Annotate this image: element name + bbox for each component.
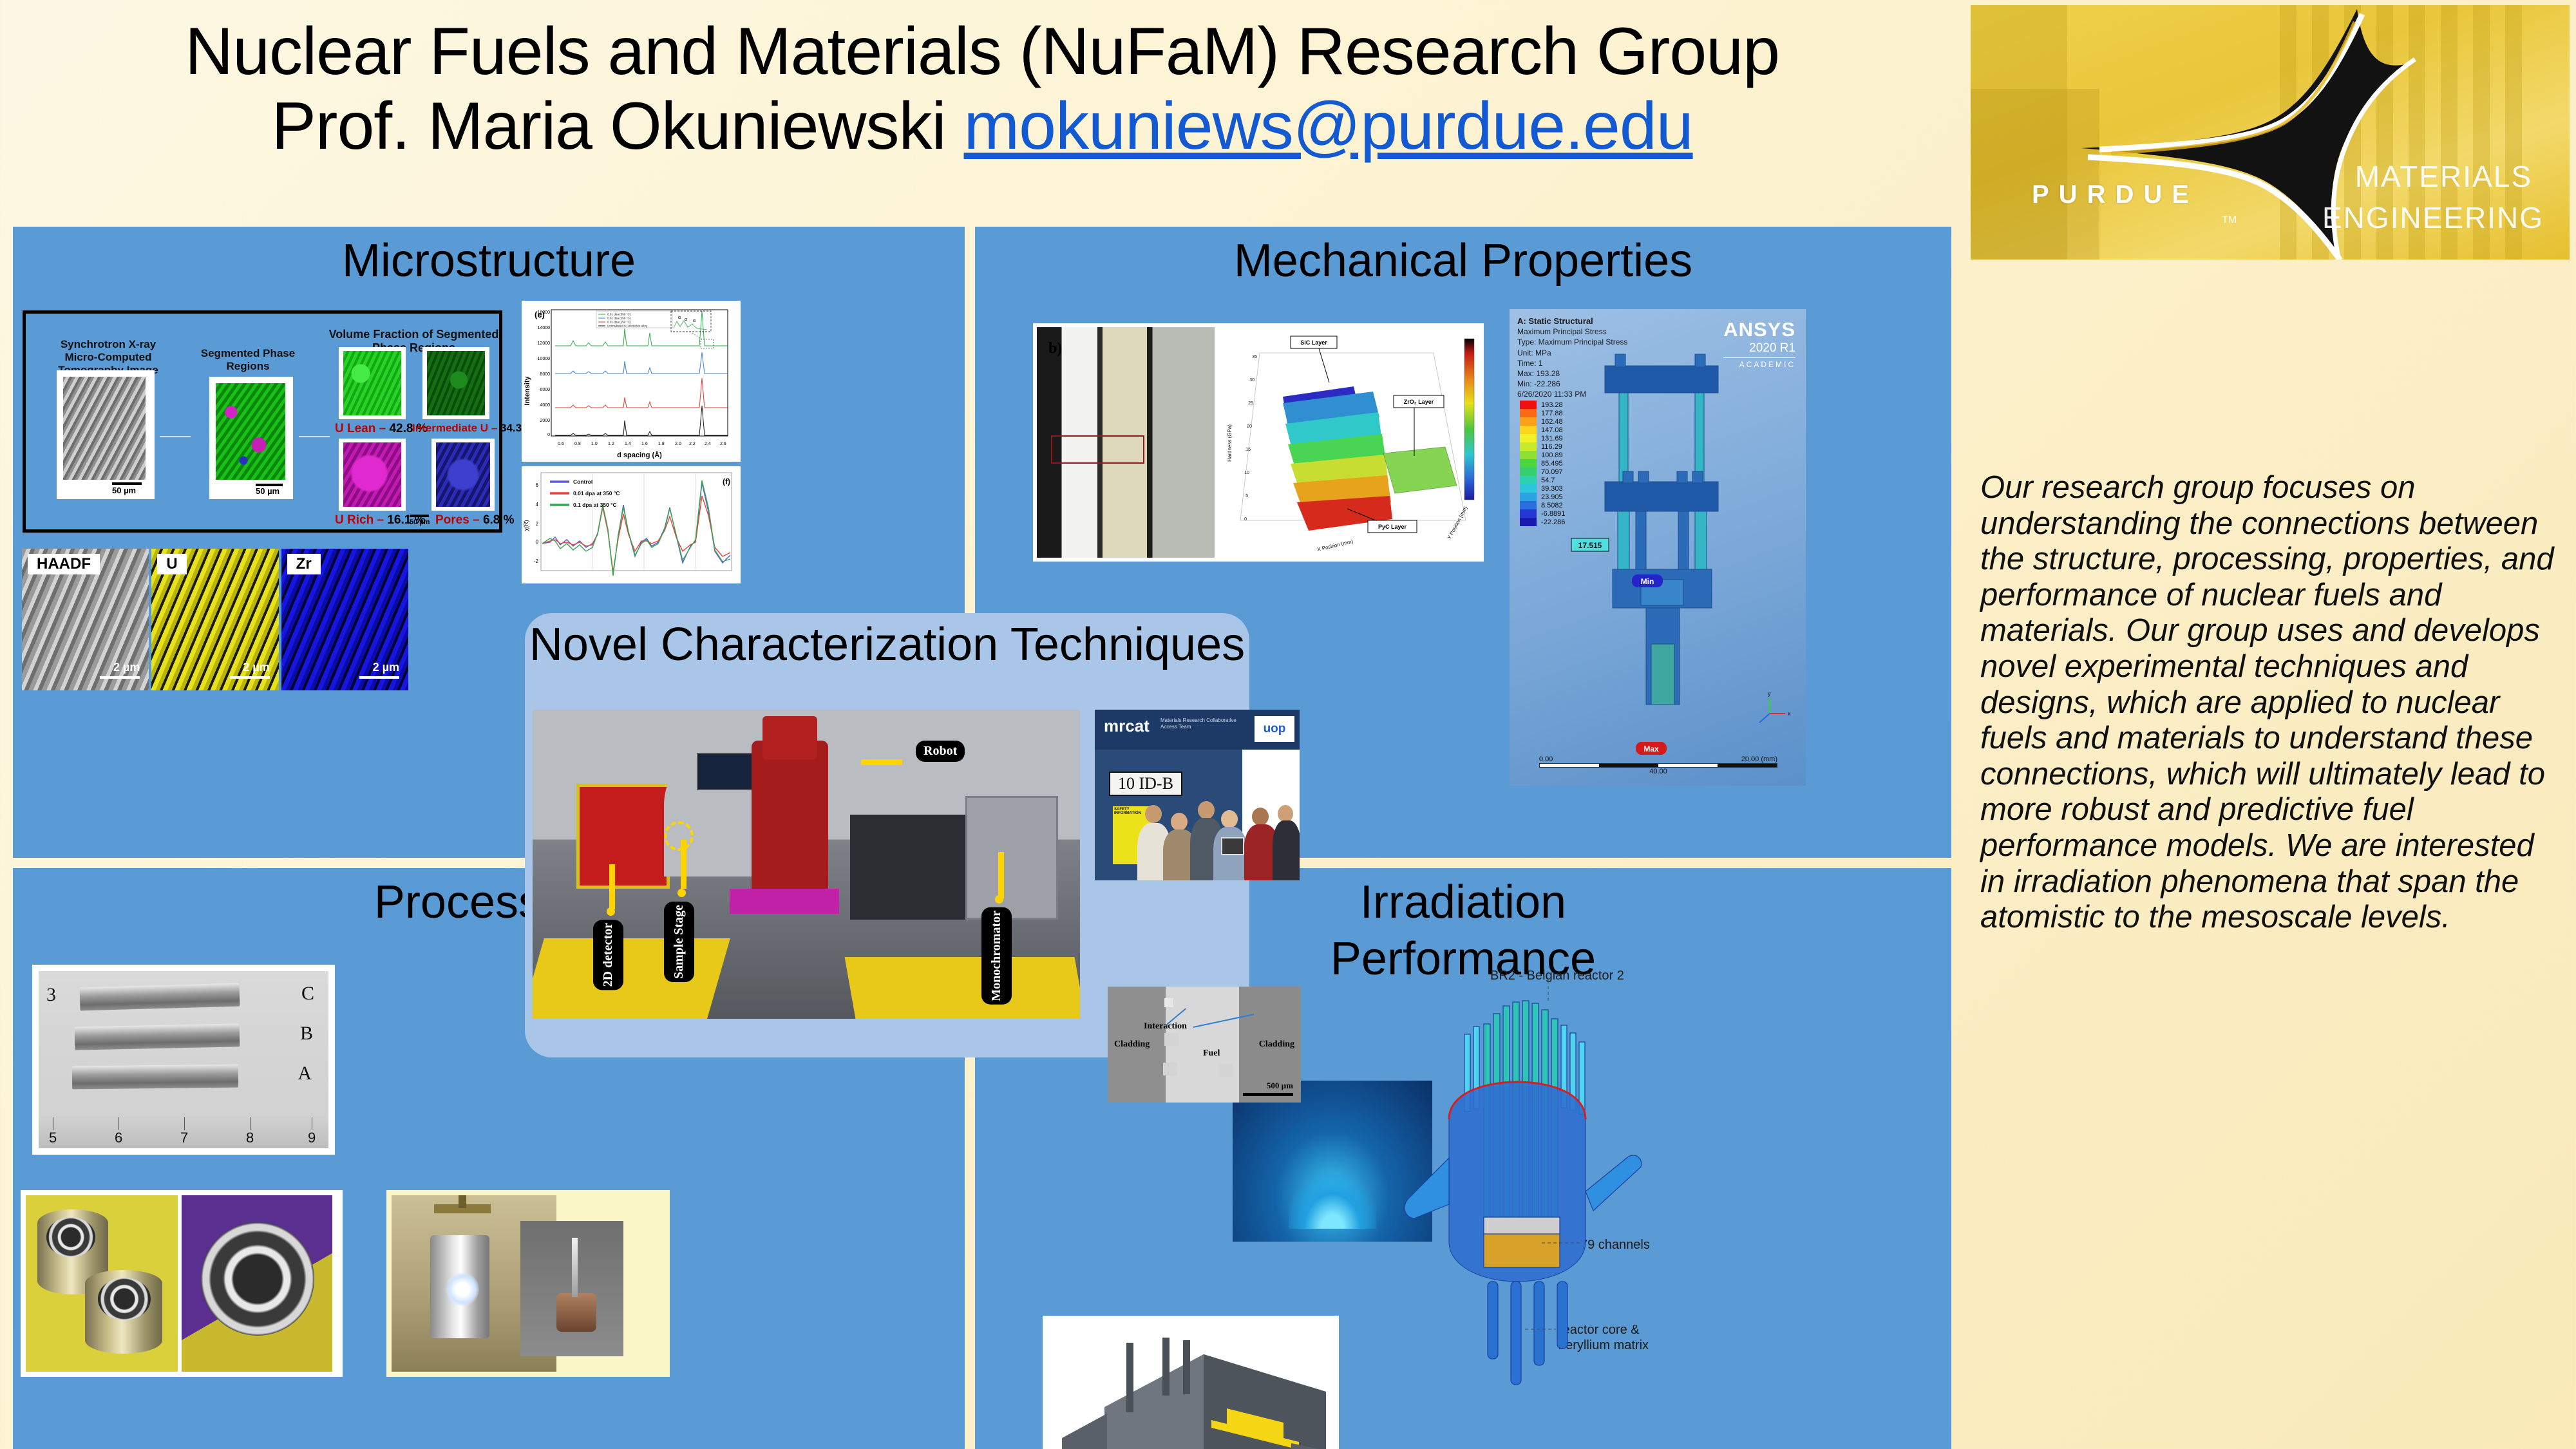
fuel-cladding-micrograph: Interaction Cladding Fuel Cladding 500 µ… — [1108, 987, 1301, 1103]
eds-label-uranium: U — [157, 554, 186, 574]
hardness-surface-plot: 35 30 25 20 15 10 5 0 Hardness (GPa) X P… — [1221, 327, 1480, 558]
micrograph-scale: 500 µm — [1267, 1081, 1293, 1091]
svg-text:6000: 6000 — [540, 388, 550, 392]
mrcat-wordmark: mrcat — [1104, 716, 1150, 736]
phase-cube-intermediate-u — [422, 347, 489, 419]
ring-samples-figure — [21, 1190, 343, 1377]
phase-label-intermediate-u: Intermediate U – 34.3 % — [412, 422, 535, 435]
svg-text:0: 0 — [547, 433, 550, 437]
triso-cross-section: b) — [1037, 327, 1215, 558]
svg-text:16000: 16000 — [538, 310, 551, 315]
beamline-photo: Robot 2D detector Sample Stage Monochrom… — [533, 710, 1080, 1019]
svg-text:30: 30 — [1249, 378, 1255, 383]
section-title-microstructure: Microstructure — [13, 234, 965, 287]
eds-scale-haadf: 2 µm — [113, 661, 140, 674]
svg-text:2: 2 — [536, 521, 539, 527]
svg-text:α: α — [693, 319, 696, 323]
eds-scale-uranium: 2 µm — [243, 661, 269, 674]
svg-text:SiC Layer: SiC Layer — [1300, 339, 1327, 346]
svg-text:0.01 dpa (150 °C): 0.01 dpa (150 °C) — [607, 321, 631, 324]
ct-scale: 50 µm — [112, 486, 136, 495]
svg-text:1.0: 1.0 — [591, 442, 598, 446]
svg-text:Unirradiated U-10wt%Mo alloy: Unirradiated U-10wt%Mo alloy — [607, 325, 648, 328]
svg-text:4: 4 — [536, 502, 539, 507]
vf-scale: 50 µm — [410, 518, 430, 526]
svg-text:5: 5 — [1245, 494, 1248, 498]
author-name: Prof. Maria Okuniewski — [271, 89, 963, 164]
svg-text:12000: 12000 — [538, 341, 551, 346]
reactor-building-cad — [1043, 1316, 1339, 1449]
micrograph-label-interaction: Interaction — [1144, 1021, 1187, 1032]
svg-text:17.515: 17.515 — [1578, 541, 1602, 550]
segmented-image: 50 µm — [209, 377, 293, 499]
triso-roi-box — [1051, 435, 1144, 464]
svg-text:0.6: 0.6 — [558, 442, 564, 446]
svg-text:Hardness (GPa): Hardness (GPa) — [1227, 424, 1233, 462]
svg-text:35: 35 — [1252, 355, 1257, 359]
phase-cube-u-lean — [339, 347, 406, 419]
micrograph-label-fuel: Fuel — [1203, 1048, 1220, 1059]
tomography-workflow-figure: Synchrotron X-ray Micro-Computed Tomogra… — [23, 310, 502, 533]
section-novel-characterization-body: Robot 2D detector Sample Stage Monochrom… — [525, 671, 1249, 1057]
logo-trademark: TM — [2222, 214, 2237, 226]
logo-materials-text: MATERIALS — [2355, 161, 2532, 193]
uop-logo: uop — [1255, 716, 1294, 742]
svg-text:χ(R): χ(R) — [523, 520, 529, 531]
svg-text:0.01 dpa at 350 °C: 0.01 dpa at 350 °C — [573, 490, 620, 497]
svg-text:6: 6 — [536, 482, 539, 488]
svg-text:Max: Max — [1643, 744, 1659, 753]
svg-text:2000: 2000 — [540, 419, 550, 423]
svg-text:0.01 dpa (250 °C): 0.01 dpa (250 °C) — [607, 317, 631, 320]
author-line: Prof. Maria Okuniewski mokuniews@purdue.… — [271, 89, 1692, 164]
svg-text:1.8: 1.8 — [658, 442, 665, 446]
mrcat-subtitle: Materials Research Collaborative Access … — [1160, 717, 1251, 730]
eds-label-haadf: HAADF — [28, 554, 100, 574]
svg-text:x: x — [1788, 710, 1791, 717]
svg-text:0: 0 — [536, 539, 539, 545]
foil-batch-number: 3 — [46, 984, 56, 1006]
phase-label-pores: Pores – 6.8 % — [435, 513, 515, 527]
foil-label-a: A — [298, 1063, 312, 1084]
logo-engineering-text: ENGINEERING — [2322, 202, 2544, 234]
svg-text:10: 10 — [1244, 471, 1249, 475]
svg-text:-2: -2 — [534, 558, 539, 564]
svg-text:Intensity: Intensity — [524, 376, 531, 406]
svg-text:Y Position (mm): Y Position (mm) — [1446, 505, 1469, 540]
svg-text:20: 20 — [1247, 424, 1252, 429]
triso-panel-tag: b) — [1048, 340, 1062, 357]
ansys-simulation-figure: A: Static Structural Maximum Principal S… — [1510, 309, 1806, 786]
svg-text:Control: Control — [573, 478, 592, 485]
ring-photo-purple — [182, 1195, 332, 1372]
phase-cube-pores — [431, 439, 495, 511]
casting-sample-photo — [520, 1221, 623, 1356]
svg-text:(f): (f) — [723, 477, 730, 486]
eds-label-zirconium: Zr — [287, 554, 321, 574]
ct-image: 50 µm — [57, 370, 155, 499]
micrograph-label-cladding-right: Cladding — [1259, 1039, 1294, 1050]
svg-text:1.4: 1.4 — [625, 442, 631, 446]
svg-text:2.4: 2.4 — [705, 442, 711, 446]
beamline-label-sample-stage: Sample Stage — [664, 902, 694, 982]
svg-text:2.0: 2.0 — [675, 442, 681, 446]
email-link[interactable]: mokuniews@purdue.edu — [964, 89, 1693, 164]
foil-samples-figure: 3 C B A 5 6 7 8 9 — [32, 965, 335, 1155]
svg-text:10000: 10000 — [538, 357, 551, 361]
segmented-scale: 50 µm — [256, 486, 279, 496]
eds-map-zirconium: Zr 2 µm — [281, 549, 408, 690]
svg-text:8000: 8000 — [540, 372, 550, 377]
arc-melting-figure — [386, 1190, 670, 1377]
eds-map-uranium: U 2 µm — [151, 549, 278, 690]
ansys-load-frame-model: 17.515 Min Max x y — [1510, 309, 1806, 786]
svg-text:2.6: 2.6 — [720, 442, 726, 446]
svg-text:y: y — [1768, 690, 1771, 697]
foil-label-b: B — [300, 1023, 313, 1045]
eds-map-haadf: HAADF 2 µm — [22, 549, 149, 690]
svg-text:0.8: 0.8 — [574, 442, 581, 446]
ansys-scale-bar: 0.00 20.00 (mm) 40.00 — [1539, 755, 1777, 775]
xrd-chart: (e) 16000 14000 12000 10000 8000 6000 40… — [522, 301, 741, 462]
beamline-station-sign: 10 ID-B — [1109, 772, 1182, 796]
svg-text:α: α — [685, 317, 687, 322]
micrograph-label-cladding-left: Cladding — [1114, 1039, 1150, 1050]
mrcat-group-photo: mrcat Materials Research Collaborative A… — [1095, 710, 1300, 880]
beamline-label-robot: Robot — [916, 741, 965, 762]
svg-text:4000: 4000 — [540, 403, 550, 408]
svg-text:2.2: 2.2 — [689, 442, 696, 446]
poster-body: Microstructure Synchrotron X-ray Micro-C… — [13, 227, 1951, 1449]
svg-text:25: 25 — [1248, 401, 1253, 406]
svg-text:1.6: 1.6 — [641, 442, 648, 446]
svg-text:15: 15 — [1245, 448, 1251, 452]
triso-hardness-figure: b) — [1033, 323, 1484, 562]
exafs-chart: (f) 6 4 2 0 -2 χ(R) Control — [522, 466, 741, 583]
svg-text:0.01 dpa (350 °C): 0.01 dpa (350 °C) — [607, 313, 631, 316]
ruler: 5 6 7 8 9 — [39, 1115, 328, 1148]
svg-text:d spacing (Å): d spacing (Å) — [617, 451, 662, 459]
phase-cube-u-rich — [339, 439, 406, 511]
svg-text:0.1 dpa at 350 °C: 0.1 dpa at 350 °C — [573, 502, 617, 508]
beamline-label-2d-detector: 2D detector — [593, 920, 623, 990]
svg-text:PyC Layer: PyC Layer — [1378, 524, 1407, 530]
svg-text:Min: Min — [1641, 577, 1654, 586]
svg-text:α: α — [678, 316, 681, 320]
research-description: Our research group focuses on understand… — [1980, 470, 2560, 936]
svg-text:14000: 14000 — [538, 326, 551, 330]
logo-purdue-text: PURDUE — [2032, 180, 2199, 209]
poster-header: Nuclear Fuels and Materials (NuFaM) Rese… — [0, 0, 1964, 232]
section-title-mechanical: Mechanical Properties — [975, 234, 1951, 287]
ring-photo-yellow — [26, 1195, 178, 1372]
page-title: Nuclear Fuels and Materials (NuFaM) Rese… — [185, 14, 1779, 89]
svg-text:X Position (mm): X Position (mm) — [1316, 538, 1354, 553]
eds-element-maps: HAADF 2 µm U 2 µm Zr 2 µm — [22, 549, 408, 690]
foil-label-c: C — [301, 983, 314, 1005]
svg-text:1.2: 1.2 — [608, 442, 614, 446]
section-title-novel: Novel Characterization Techniques — [525, 618, 1249, 671]
beamline-label-monochromator: Monochromator — [981, 907, 1012, 1005]
br2-reactor-diagram: BR2 - Belgian reactor 2 79 channels reac… — [1387, 965, 1690, 1428]
segmented-caption: Segmented Phase Regions — [187, 347, 309, 373]
svg-text:0: 0 — [1244, 517, 1247, 522]
purdue-materials-engineering-logo: PURDUE TM MATERIALS ENGINEERING — [1971, 5, 2570, 260]
eds-scale-zirconium: 2 µm — [373, 661, 399, 674]
svg-text:ZrO₂ Layer: ZrO₂ Layer — [1404, 399, 1434, 405]
